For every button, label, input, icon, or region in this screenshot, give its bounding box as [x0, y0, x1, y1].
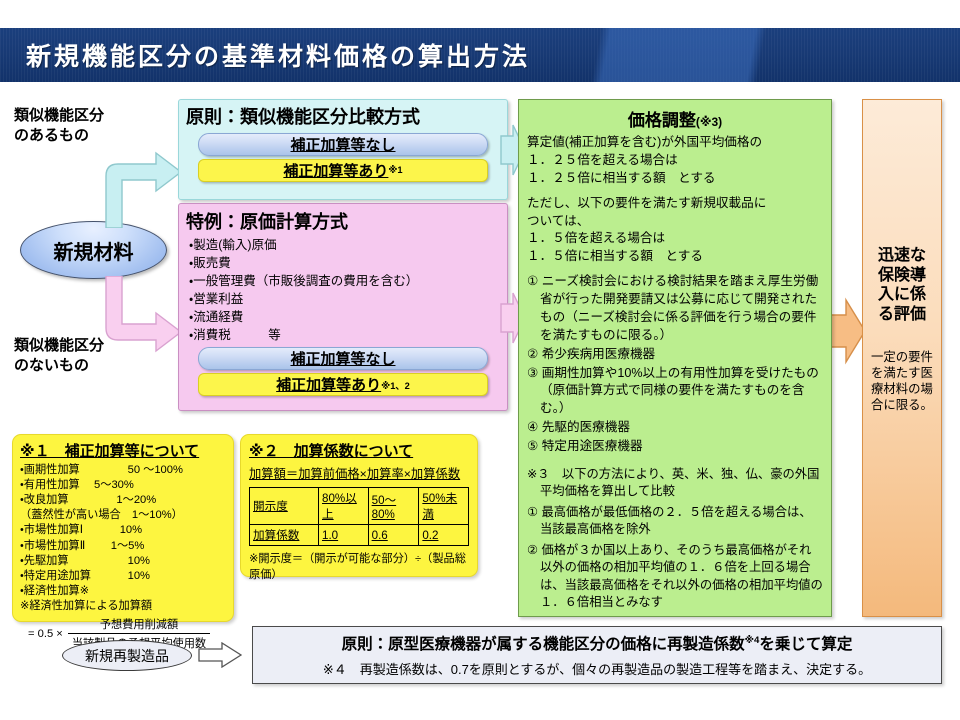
cost-item: ・一般管理費（市販後調査の費用を含む） — [189, 272, 507, 290]
page-title: 新規機能区分の基準材料価格の算出方法 — [26, 37, 530, 73]
note-1-title: ※１ 補正加算等について — [20, 440, 226, 461]
adjust-condition: ⑤ 特定用途医療機器 — [527, 438, 823, 456]
note-1-row: （蓋然性が高い場合 1～10%） — [20, 508, 226, 523]
note-2-coefficient-card: ※２ 加算係数について 加算額＝加算前価格×加算率×加算係数 開示度 80%以上… — [240, 434, 478, 577]
adjust-condition: ③ 画期性加算や10%以上の有用性加算を受けたもの（原価計算方式で同様の要件を満… — [527, 365, 823, 419]
note-1-row: ・有用性加算 5～30% — [20, 478, 226, 493]
arrow-to-special-icon — [84, 276, 184, 356]
formula-numerator: 予想費用削減額 — [96, 616, 182, 633]
note-1-adjustment-card: ※１ 補正加算等について ・画期性加算 50 ～100% ・有用性加算 5～30… — [12, 434, 234, 622]
price-adjustment-card: 価格調整(※3) 算定値(補正加算を含む)が外国平均価格の １．２５倍を超える場… — [518, 99, 832, 617]
cost-item: ・製造(輸入)原価 — [189, 236, 507, 254]
coefficient-cell: 0.2 — [419, 525, 469, 546]
row-header-disclosure: 開示度 — [250, 488, 319, 525]
footnote-head: ※３ 以下の方法により、英、米、独、仏、豪の外国平均価格を算出して比較 — [527, 466, 823, 501]
disclosure-cell: 80%以上 — [319, 488, 369, 525]
note-1-row: ・画期性加算 50 ～100% — [20, 463, 226, 478]
footnote-mark-4: ※4 — [745, 635, 760, 646]
adjust-title: 価格調整(※3) — [527, 106, 823, 131]
footnote-mark-1: ※1 — [388, 165, 402, 176]
footnote-mark-1-2: ※1、2 — [381, 378, 410, 392]
disclosure-cell: 50%未満 — [419, 488, 469, 525]
principle-pill-with-adjustment[interactable]: 補正加算等あり※1 — [198, 159, 488, 182]
slide-header-bar: 新規機能区分の基準材料価格の算出方法 — [0, 28, 960, 82]
principle-method-card: 原則：類似機能区分比較方式 補正加算等なし 補正加算等あり※1 — [178, 99, 508, 200]
adjust-footnote-3: ※３ 以下の方法により、英、米、独、仏、豪の外国平均価格を算出して比較 ① 最高… — [527, 466, 823, 612]
remanufactured-rule-card: 原則：原型医療機器が属する機能区分の価格に再製造係数※4を乗じて算定 ※４ 再製… — [252, 626, 942, 684]
adjust-condition: ② 希少疾病用医療機器 — [527, 346, 823, 364]
table-row: 加算係数 1.0 0.6 0.2 — [250, 525, 469, 546]
slide-canvas: 新規機能区分の基準材料価格の算出方法 類似機能区分 のあるもの 類似機能区分 の… — [0, 0, 960, 720]
disclosure-cell: 50～80% — [368, 488, 419, 525]
note-1-row: ・市場性加算Ⅱ 1～5% — [20, 539, 226, 554]
note-1-row: ・特定用途加算 10% — [20, 569, 226, 584]
adjust-paragraph-1: 算定値(補正加算を含む)が外国平均価格の １．２５倍を超える場合は １．２５倍に… — [527, 134, 823, 188]
cost-component-list: ・製造(輸入)原価 ・販売費 ・一般管理費（市販後調査の費用を含む） ・営業利益… — [189, 236, 507, 344]
row-header-coefficient: 加算係数 — [250, 525, 319, 546]
new-material-oval: 新規材料 — [20, 221, 167, 279]
special-pill-with-adjustment[interactable]: 補正加算等あり※1、2 — [198, 373, 488, 396]
cost-item: ・消費税 等 — [189, 326, 507, 344]
principle-heading: 原則：類似機能区分比較方式 — [186, 103, 507, 129]
note-1-row: ※経済性加算による加算額 — [20, 599, 226, 614]
formula-lead: = 0.5 × — [28, 628, 63, 640]
outcome-note: 一定の要件を満たす医療材料の場合に限る。 — [871, 350, 933, 414]
arrow-remanufactured-icon — [198, 642, 242, 668]
cost-item: ・販売費 — [189, 254, 507, 272]
footnote-item: ① 最高価格が最低価格の２．５倍を超える場合は、当該最高価格を除外 — [527, 504, 823, 539]
cost-item: ・営業利益 — [189, 290, 507, 308]
outcome-title: 迅速な保険導入に係る評価 — [873, 246, 931, 324]
bottom-note: ※４ 再製造係数は、0.7を原則とするが、個々の再製造品の製造工程等を踏まえ、決… — [323, 659, 871, 678]
coefficient-cell: 0.6 — [368, 525, 419, 546]
rapid-insurance-outcome-card: 迅速な保険導入に係る評価 一定の要件を満たす医療材料の場合に限る。 — [862, 99, 942, 617]
adjust-condition: ④ 先駆的医療機器 — [527, 419, 823, 437]
label-has-similar-category: 類似機能区分 のあるもの — [14, 106, 104, 147]
coefficient-table: 開示度 80%以上 50～80% 50%未満 加算係数 1.0 0.6 0.2 — [249, 487, 469, 546]
arrow-to-principle-icon — [84, 150, 184, 228]
note-1-row: ・先駆加算 10% — [20, 554, 226, 569]
note-1-row: ・改良加算 1～20% — [20, 493, 226, 508]
coefficient-cell: 1.0 — [319, 525, 369, 546]
footnote-item: ② 価格が３か国以上あり、そのうち最高価格がそれ以外の価格の相加平均値の１．６倍… — [527, 542, 823, 612]
cost-item: ・流通経費 — [189, 308, 507, 326]
table-row: 開示度 80%以上 50～80% 50%未満 — [250, 488, 469, 525]
adjust-condition: ① ニーズ検討会における検討結果を踏まえ厚生労働省が行った開発要請又は公募に応じ… — [527, 273, 823, 345]
note-1-row: ・市場性加算Ⅰ 10% — [20, 523, 226, 538]
adjust-paragraph-2: ただし、以下の要件を満たす新規収載品に ついては、 １．５倍を超える場合は １．… — [527, 195, 823, 267]
principle-pill-no-adjustment[interactable]: 補正加算等なし — [198, 133, 488, 156]
bottom-title: 原則：原型医療機器が属する機能区分の価格に再製造係数※4を乗じて算定 — [342, 632, 853, 654]
arrow-adjust-to-outcome-icon — [826, 296, 866, 366]
note-1-row: ・経済性加算※ — [20, 584, 226, 599]
note-2-title: ※２ 加算係数について — [249, 440, 469, 461]
special-method-card: 特例：原価計算方式 ・製造(輸入)原価 ・販売費 ・一般管理費（市販後調査の費用… — [178, 203, 508, 411]
note-2-formula: 加算額＝加算前価格×加算率×加算係数 — [249, 464, 469, 482]
remanufactured-product-oval: 新規再製造品 — [62, 640, 192, 671]
adjust-title-mark: (※3) — [696, 115, 722, 129]
special-pill-no-adjustment[interactable]: 補正加算等なし — [198, 347, 488, 370]
special-heading: 特例：原価計算方式 — [186, 208, 507, 234]
note-2-footnote: ※開示度＝（開示が可能な部分）÷（製品総原価） — [249, 550, 469, 582]
